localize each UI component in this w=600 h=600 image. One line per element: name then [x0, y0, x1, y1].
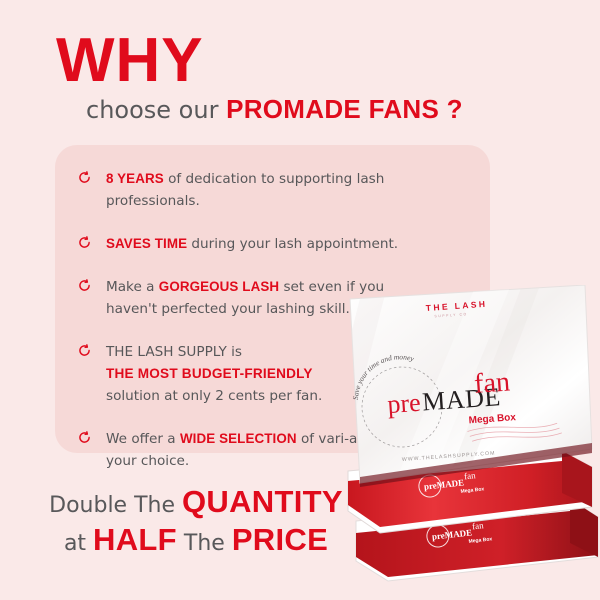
tagline-grey-at: at: [64, 531, 93, 556]
tagline-grey-a: Double The: [49, 493, 182, 518]
benefit-text: We offer a: [106, 431, 180, 447]
benefit-highlight: SAVES TIME: [106, 236, 187, 251]
benefit-highlight: 8 YEARS: [106, 171, 164, 186]
rotate-icon: [78, 236, 91, 249]
subtitle-emphasis: PROMADE FANS: [226, 94, 439, 124]
heading-block: WHY choose our PROMADE FANS ?: [56, 32, 556, 125]
promotional-poster: WHY choose our PROMADE FANS ? 8 YEARS of…: [0, 0, 600, 600]
subtitle-suffix: ?: [439, 94, 463, 124]
subtitle-prefix: choose our: [86, 96, 226, 124]
list-item: 8 YEARS of dedication to supporting lash…: [78, 168, 428, 212]
list-item: SAVES TIME during your lash appointment.: [78, 233, 428, 255]
benefit-highlight: WIDE SELECTION: [180, 431, 297, 446]
tagline-red-price: PRICE: [232, 522, 328, 557]
svg-text:fan: fan: [473, 366, 511, 399]
svg-text:pre: pre: [386, 388, 421, 419]
benefit-text: THE LASH SUPPLY is: [106, 344, 242, 360]
rotate-icon: [78, 431, 91, 444]
benefit-text: Make a: [106, 279, 159, 295]
benefit-highlight: GORGEOUS LASH: [159, 279, 279, 294]
rotate-icon: [78, 171, 91, 184]
rotate-icon: [78, 279, 91, 292]
svg-text:fan: fan: [464, 470, 477, 481]
page-title: WHY: [56, 32, 556, 91]
product-photo: preMADE fan Mega Box WWW.THELASHSUPPLY.C…: [330, 285, 600, 585]
rotate-icon: [78, 344, 91, 357]
page-subtitle: choose our PROMADE FANS ?: [86, 95, 556, 125]
tagline-red-quantity: QUANTITY: [182, 484, 343, 519]
tagline-grey-the: The: [177, 531, 232, 556]
tagline-red-half: HALF: [93, 522, 177, 557]
benefit-text: during your lash appointment.: [187, 236, 398, 252]
